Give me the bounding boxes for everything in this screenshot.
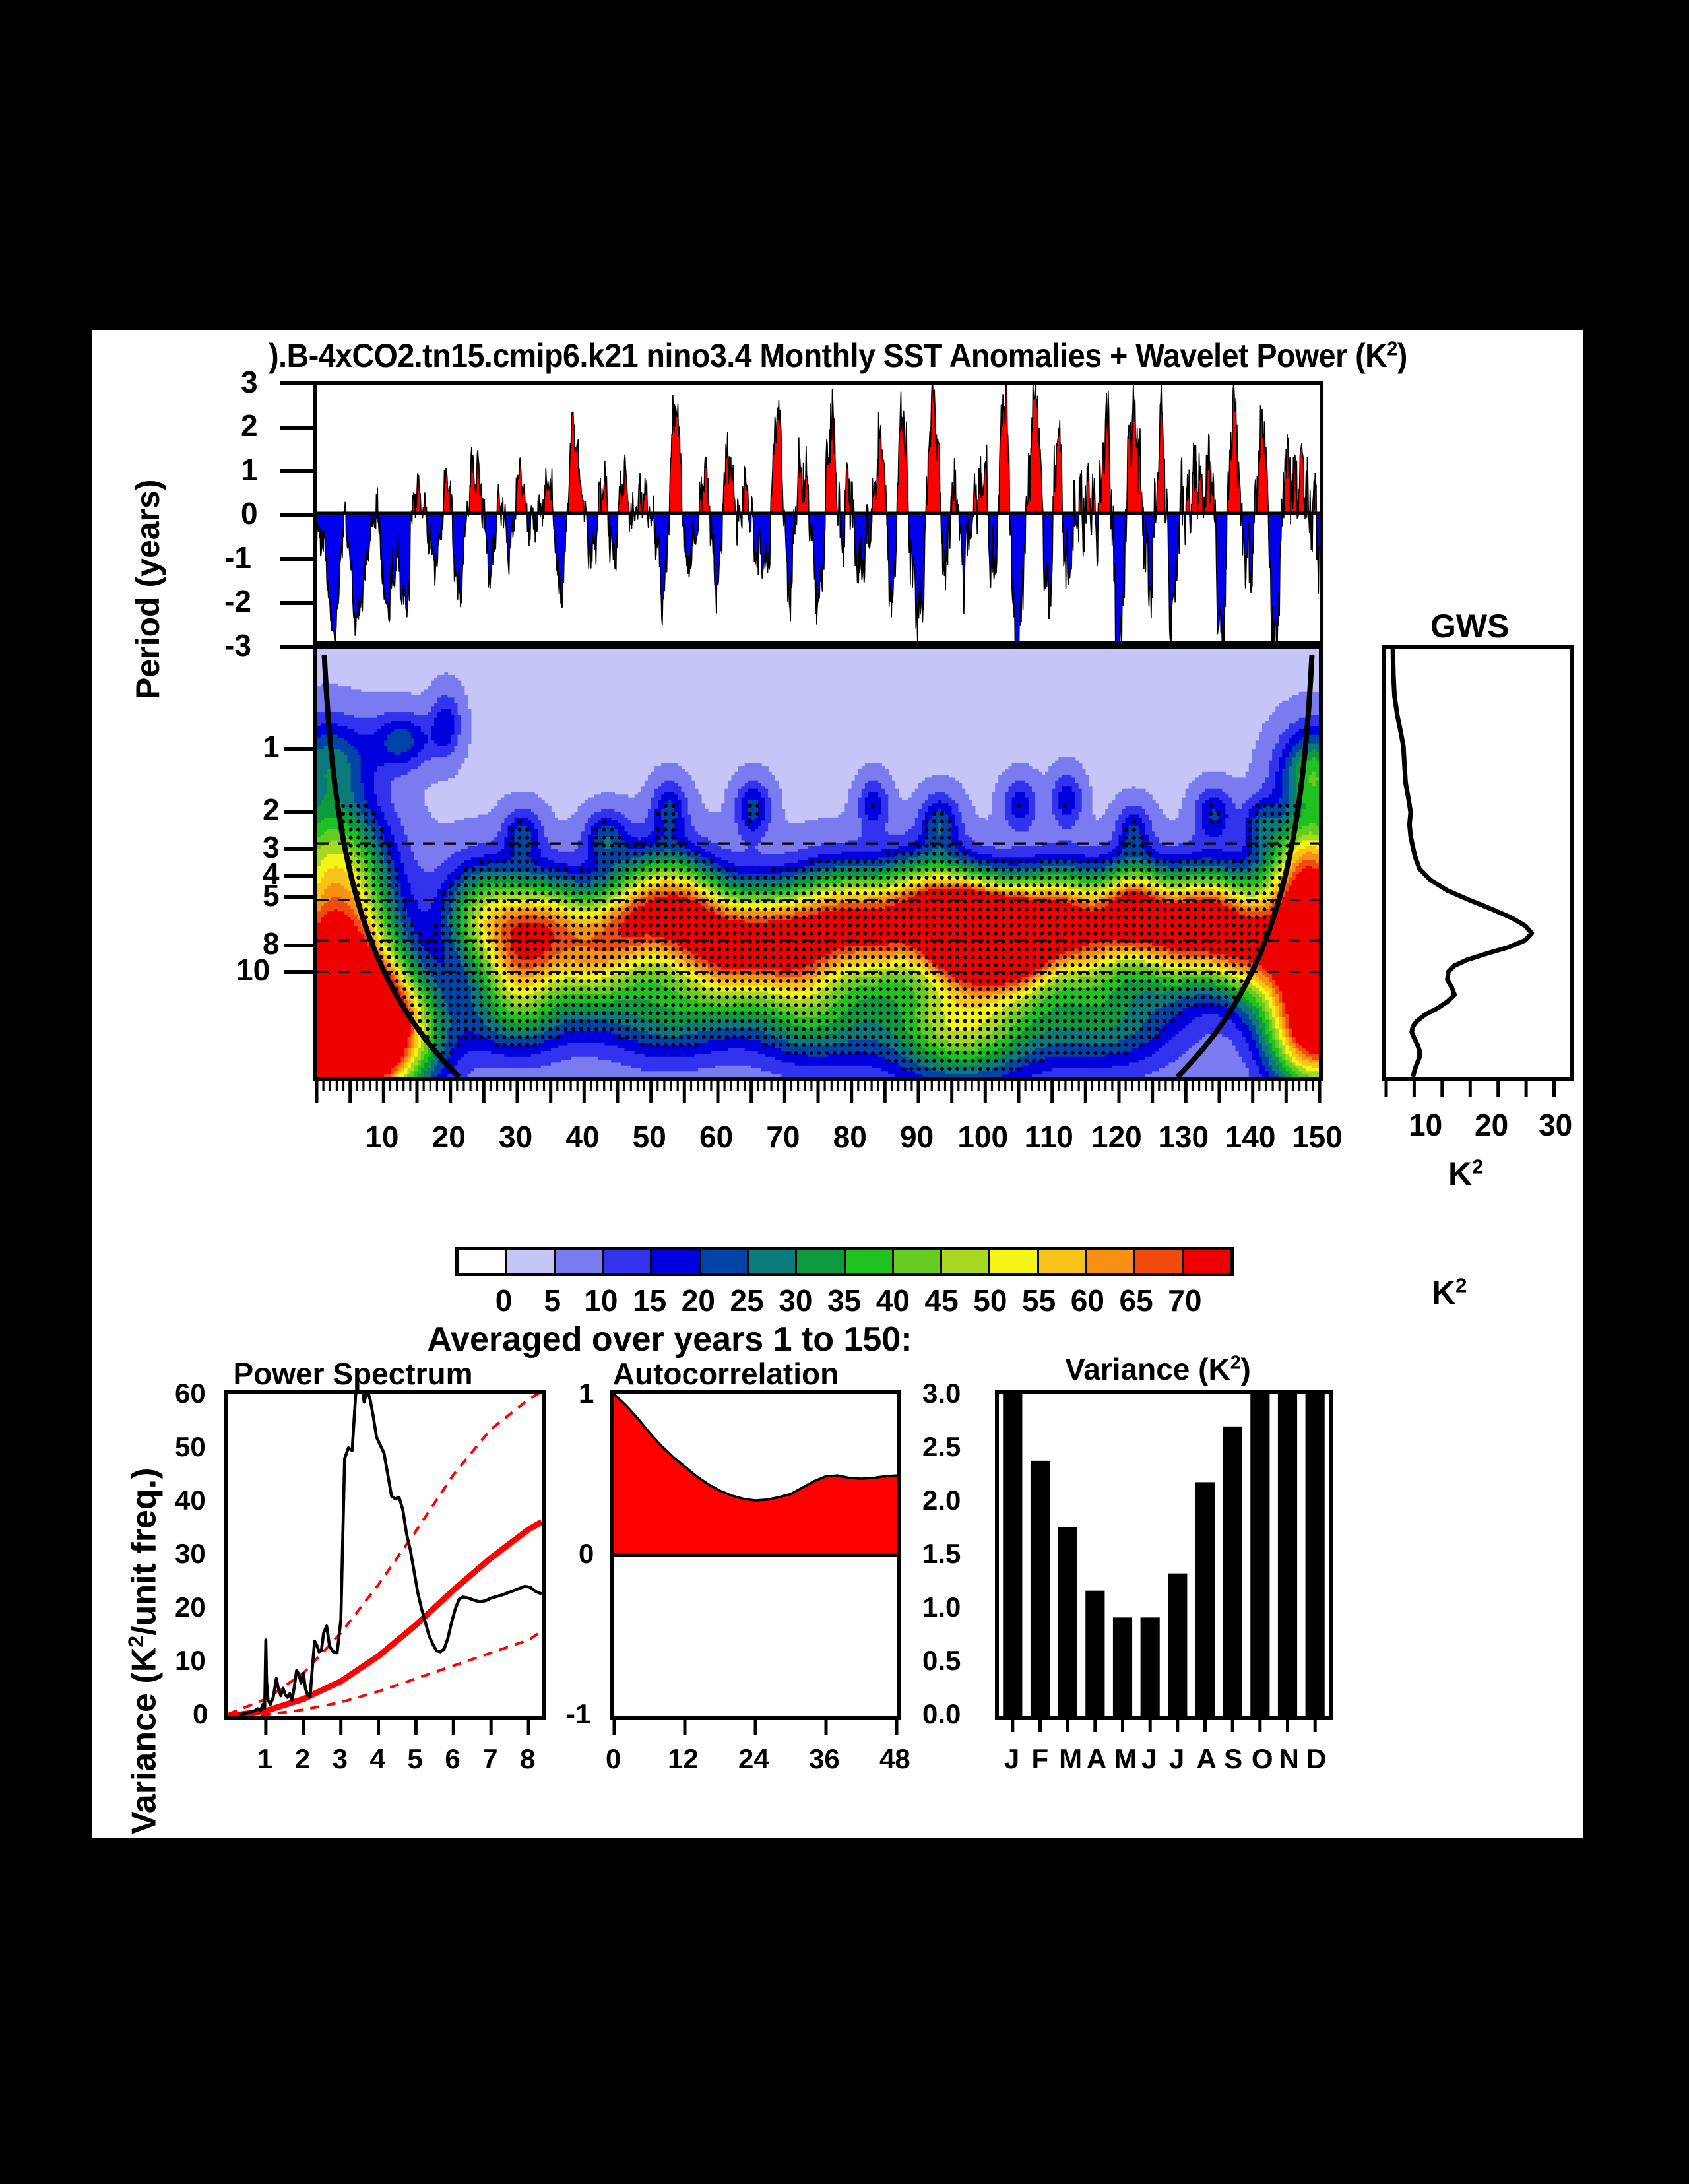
wav-ytick-2: 2 [263,792,280,827]
ac-ytick-neg1: -1 [566,1698,590,1730]
gws-xlabel-superscript: 2 [1472,1155,1483,1178]
mv-ytick-20: 2.0 [922,1485,961,1516]
wavelet-xtick-20: 20 [432,1119,466,1155]
power-colorbar [455,1247,1234,1276]
variance-ylabel-superscript: 2 [124,1636,148,1648]
power-spectrum-xaxis-ticks [224,1720,546,1743]
autocorrelation-xaxis-ticks [610,1720,901,1743]
colorbar-swatch-2 [556,1250,604,1273]
colorbar-swatch-10 [942,1250,990,1273]
colorbar-swatch-4 [652,1250,700,1273]
wavelet-xaxis-ticks [313,1081,1323,1118]
variance-ylabel-prefix: Variance (K [125,1648,163,1834]
mv-xtick-6: J [1169,1743,1184,1775]
mv-xtick-10: N [1279,1743,1299,1775]
ps-xtick-2: 2 [295,1743,310,1775]
wavelet-power-panel [313,645,1323,1081]
monthly-variance-xaxis-ticks [995,1720,1333,1743]
wav-tickmark-10 [284,970,313,974]
wavelet-xtick-40: 40 [565,1119,599,1155]
colorbar-swatch-15 [1184,1250,1230,1273]
ts-tickmark-neg3 [280,645,313,649]
ts-ytick-3: 3 [241,364,258,400]
colorbar-tick-50: 50 [973,1283,1007,1318]
ac-xtick-24: 24 [738,1743,769,1775]
mv-ytick-25: 2.5 [922,1431,961,1463]
colorbar-unit-superscript: 2 [1455,1273,1467,1297]
ts-tickmark-3 [280,381,313,385]
ps-xtick-4: 4 [370,1743,385,1775]
monthly-variance-plot-frame [995,1390,1333,1720]
ts-ytick-neg1: -1 [224,540,251,575]
ts-ytick-2: 2 [241,408,258,443]
ts-tickmark-neg1 [280,557,313,561]
mv-ytick-30: 3.0 [922,1378,961,1409]
ac-xtick-12: 12 [668,1743,699,1775]
wavelet-xtick-100: 100 [957,1119,1008,1155]
ps-ytick-40: 40 [175,1485,206,1516]
colorbar-tick-20: 20 [682,1283,715,1318]
colorbar-swatch-1 [507,1250,555,1273]
mv-ytick-00: 0.0 [922,1698,961,1730]
ps-xtick-7: 7 [482,1743,497,1775]
wav-tickmark-3 [284,847,313,851]
colorbar-tick-0: 0 [495,1283,513,1318]
wav-ytick-5: 5 [263,878,280,913]
global-wavelet-spectrum-panel [1382,645,1574,1081]
colorbar-swatch-3 [604,1250,652,1273]
figure-page: ).B-4xCO2.tn15.cmip6.k21 nino3.4 Monthly… [92,330,1583,1838]
colorbar-tick-70: 70 [1168,1283,1201,1318]
wavelet-xtick-50: 50 [633,1119,666,1155]
colorbar-swatch-7 [797,1250,845,1273]
colorbar-unit-label: K2 [1432,1273,1467,1312]
colorbar-tick-25: 25 [730,1283,764,1318]
ts-tickmark-2 [280,426,313,430]
gws-xtick-20: 20 [1475,1107,1508,1143]
mv-xtick-9: O [1252,1743,1273,1775]
figure-title-text: ).B-4xCO2.tn15.cmip6.k21 nino3.4 Monthly… [269,337,1387,374]
sst-anomaly-timeseries-panel [313,381,1323,645]
colorbar-swatch-13 [1087,1250,1135,1273]
ps-xtick-1: 1 [257,1743,272,1775]
wavelet-xtick-140: 140 [1225,1119,1276,1155]
autocorrelation-title: Autocorrelation [554,1356,897,1392]
monthly-variance-bars [999,1394,1329,1716]
colorbar-swatch-11 [990,1250,1038,1273]
ac-xtick-0: 0 [606,1743,621,1775]
wavelet-xtick-60: 60 [699,1119,733,1155]
ps-ytick-0: 0 [193,1698,208,1730]
gws-xlabel: K2 [1448,1155,1483,1193]
mv-xtick-7: A [1197,1743,1217,1775]
variance-ylabel: Variance (K2/unit freq.) [124,1468,164,1834]
wavelet-xtick-80: 80 [833,1119,867,1155]
gws-xtick-30: 30 [1539,1107,1572,1143]
sst-anomaly-plot [317,385,1320,641]
ps-xtick-3: 3 [333,1743,348,1775]
colorbar-tick-40: 40 [876,1283,910,1318]
gws-xtick-10: 10 [1409,1107,1442,1143]
colorbar-tick-55: 55 [1022,1283,1056,1318]
wavelet-xtick-110: 110 [1025,1119,1073,1155]
mv-xtick-5: J [1141,1743,1157,1775]
gws-xlabel-text: K [1448,1155,1472,1192]
ts-tickmark-neg2 [280,601,313,605]
mv-ytick-10: 1.0 [922,1591,961,1623]
colorbar-swatch-14 [1135,1250,1184,1273]
wavelet-xtick-90: 90 [900,1119,934,1155]
colorbar-swatch-12 [1039,1250,1087,1273]
wavelet-ylabel: Period (years) [129,480,167,699]
colorbar-tick-30: 30 [779,1283,812,1318]
power-spectrum-curves [228,1394,542,1716]
colorbar-swatch-9 [894,1250,942,1273]
wav-tickmark-8 [284,944,313,947]
monthly-variance-title-superscript: 2 [1230,1353,1241,1374]
colorbar-tick-60: 60 [1071,1283,1104,1318]
ps-ytick-30: 30 [175,1538,206,1570]
mv-ytick-05: 0.5 [922,1645,961,1677]
monthly-variance-title: Variance (K2) [937,1351,1379,1387]
power-spectrum-plot-frame [224,1390,546,1720]
autocorrelation-area [614,1394,897,1716]
monthly-variance-title-tail: ) [1241,1352,1251,1386]
colorbar-tick-65: 65 [1120,1283,1153,1318]
wav-tickmark-1 [284,747,313,751]
colorbar-swatch-5 [701,1250,749,1273]
colorbar-swatch-8 [846,1250,894,1273]
mv-xtick-3: A [1087,1743,1106,1775]
ps-xtick-8: 8 [520,1743,535,1775]
colorbar-unit-text: K [1432,1274,1455,1311]
colorbar-swatch-6 [749,1250,797,1273]
ts-ytick-neg3: -3 [224,627,251,663]
ts-ytick-0: 0 [241,496,258,531]
ps-ytick-10: 10 [175,1645,206,1677]
ps-xtick-6: 6 [445,1743,460,1775]
ps-xtick-5: 5 [407,1743,422,1775]
figure-title-superscript: 2 [1387,337,1397,360]
wavelet-xtick-120: 120 [1091,1119,1142,1155]
colorbar-tick-5: 5 [544,1283,561,1318]
mv-xtick-8: S [1224,1743,1242,1775]
colorbar-tick-15: 15 [633,1283,666,1318]
wav-tickmark-4 [284,874,313,878]
wavelet-xtick-30: 30 [499,1119,532,1155]
wav-ytick-1: 1 [263,729,280,765]
ac-ytick-0: 0 [579,1538,594,1570]
wavelet-xtick-150: 150 [1292,1119,1343,1155]
gws-title: GWS [1430,607,1509,645]
figure-title: ).B-4xCO2.tn15.cmip6.k21 nino3.4 Monthly… [144,337,1531,375]
mv-xtick-4: M [1114,1743,1137,1775]
mv-xtick-2: M [1059,1743,1082,1775]
ac-ytick-1: 1 [579,1378,594,1409]
ts-tickmark-0 [280,513,313,517]
wavelet-xtick-70: 70 [766,1119,800,1155]
wav-tickmark-2 [284,810,313,814]
ps-ytick-20: 20 [175,1591,206,1623]
ts-ytick-neg2: -2 [224,583,251,619]
mv-xtick-0: J [1004,1743,1019,1775]
monthly-variance-title-prefix: Variance (K [1065,1352,1230,1386]
wavelet-xtick-130: 130 [1158,1119,1209,1155]
autocorrelation-plot-frame [610,1390,901,1720]
mv-xtick-11: D [1306,1743,1326,1775]
ac-xtick-48: 48 [879,1743,910,1775]
colorbar-tick-10: 10 [584,1283,618,1318]
power-spectrum-title: Power Spectrum [155,1356,551,1392]
wav-tickmark-5 [284,895,313,899]
figure-title-tail: ) [1397,337,1407,374]
wavelet-power-contour [317,649,1319,1077]
colorbar-tick-45: 45 [925,1283,959,1318]
wavelet-xtick-10: 10 [365,1119,398,1155]
colorbar-swatch-0 [459,1250,507,1273]
gws-curve [1386,649,1570,1077]
ps-ytick-50: 50 [175,1431,206,1463]
ts-ytick-1: 1 [241,452,258,488]
ts-tickmark-1 [280,469,313,473]
colorbar-tick-35: 35 [827,1283,861,1318]
wav-ytick-10: 10 [236,952,270,988]
variance-ylabel-tail: /unit freq.) [125,1468,163,1636]
mv-xtick-1: F [1032,1743,1049,1775]
ps-ytick-60: 60 [175,1378,206,1409]
mv-ytick-15: 1.5 [922,1538,961,1570]
ac-xtick-36: 36 [809,1743,840,1775]
gws-xaxis-ticks [1382,1081,1575,1105]
